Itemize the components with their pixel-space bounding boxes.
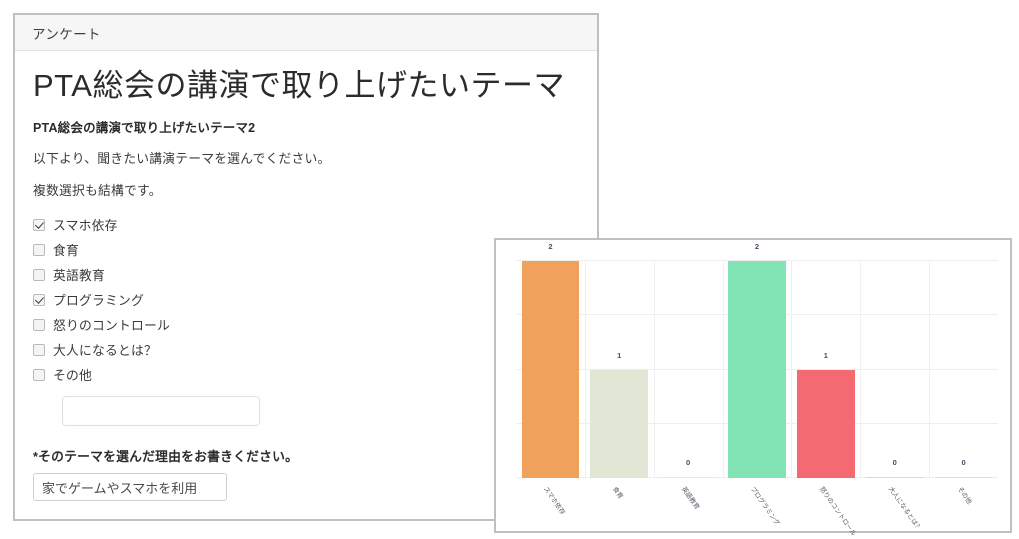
option-label: 怒りのコントロール <box>53 315 170 334</box>
chart-bar[interactable] <box>659 477 717 478</box>
bar-slot: 0大人になるとは？ <box>860 260 929 478</box>
chart-bar[interactable] <box>797 370 855 479</box>
panel-header-title: アンケート <box>32 23 101 43</box>
description-line-2: 複数選択も結構です。 <box>33 180 579 199</box>
option-label: プログラミング <box>53 290 144 309</box>
checkbox-checked-icon[interactable] <box>33 294 45 306</box>
option-row[interactable]: スマホ依存 <box>33 212 579 237</box>
chart-bar[interactable] <box>728 261 786 478</box>
chart-bar[interactable] <box>590 370 648 479</box>
x-axis-tick-label: スマホ依存 <box>542 484 569 516</box>
bar-value-label: 2 <box>516 242 585 251</box>
checkbox-checked-icon[interactable] <box>33 219 45 231</box>
checkbox-unchecked-icon[interactable] <box>33 319 45 331</box>
x-axis-tick-label: プログラミング <box>749 484 783 527</box>
bar-slot: 1怒りのコントロール <box>791 260 860 478</box>
x-axis-tick-label: 食育 <box>611 484 627 500</box>
bar-slot: 0英語教育 <box>654 260 723 478</box>
x-axis-tick-label: 怒りのコントロール <box>818 484 860 538</box>
option-label: 食育 <box>53 240 79 259</box>
chart-bar[interactable] <box>522 261 580 478</box>
bar-value-label: 1 <box>791 351 860 360</box>
x-axis-tick-label: 英語教育 <box>680 484 703 511</box>
x-axis-tick-label: その他 <box>955 484 974 506</box>
bar-value-label: 2 <box>723 242 792 251</box>
panel-header: アンケート <box>15 15 597 51</box>
reason-text-input[interactable] <box>33 473 227 501</box>
bar-value-label: 0 <box>860 458 929 467</box>
checkbox-unchecked-icon[interactable] <box>33 369 45 381</box>
checkbox-unchecked-icon[interactable] <box>33 269 45 281</box>
question-heading: PTA総会の講演で取り上げたいテーマ2 <box>33 117 579 136</box>
bar-value-label: 0 <box>929 458 998 467</box>
page-title: PTA総会の講演で取り上げたいテーマ <box>33 69 579 103</box>
other-text-input[interactable] <box>62 396 260 426</box>
option-label: 大人になるとは？ <box>53 340 157 359</box>
checkbox-unchecked-icon[interactable] <box>33 244 45 256</box>
bar-slot: 1食育 <box>585 260 654 478</box>
bar-slot: 2プログラミング <box>723 260 792 478</box>
option-label: スマホ依存 <box>53 215 118 234</box>
chart-panel: 2スマホ依存1食育0英語教育2プログラミング1怒りのコントロール0大人になるとは… <box>494 238 1012 533</box>
option-label: 英語教育 <box>53 265 105 284</box>
checkbox-unchecked-icon[interactable] <box>33 344 45 356</box>
chart-bar[interactable] <box>866 477 924 478</box>
chart-inner: 2スマホ依存1食育0英語教育2プログラミング1怒りのコントロール0大人になるとは… <box>504 246 1002 525</box>
bar-value-label: 1 <box>585 351 654 360</box>
description-line-1: 以下より、聞きたい講演テーマを選んでください。 <box>33 148 579 167</box>
bar-slot: 0その他 <box>929 260 998 478</box>
option-label: その他 <box>53 365 92 384</box>
bar-chart-plot-area: 2スマホ依存1食育0英語教育2プログラミング1怒りのコントロール0大人になるとは… <box>516 260 998 478</box>
bar-value-label: 0 <box>654 458 723 467</box>
bar-slot: 2スマホ依存 <box>516 260 585 478</box>
chart-bar[interactable] <box>935 477 993 478</box>
x-axis-tick-label: 大人になるとは？ <box>887 484 925 532</box>
